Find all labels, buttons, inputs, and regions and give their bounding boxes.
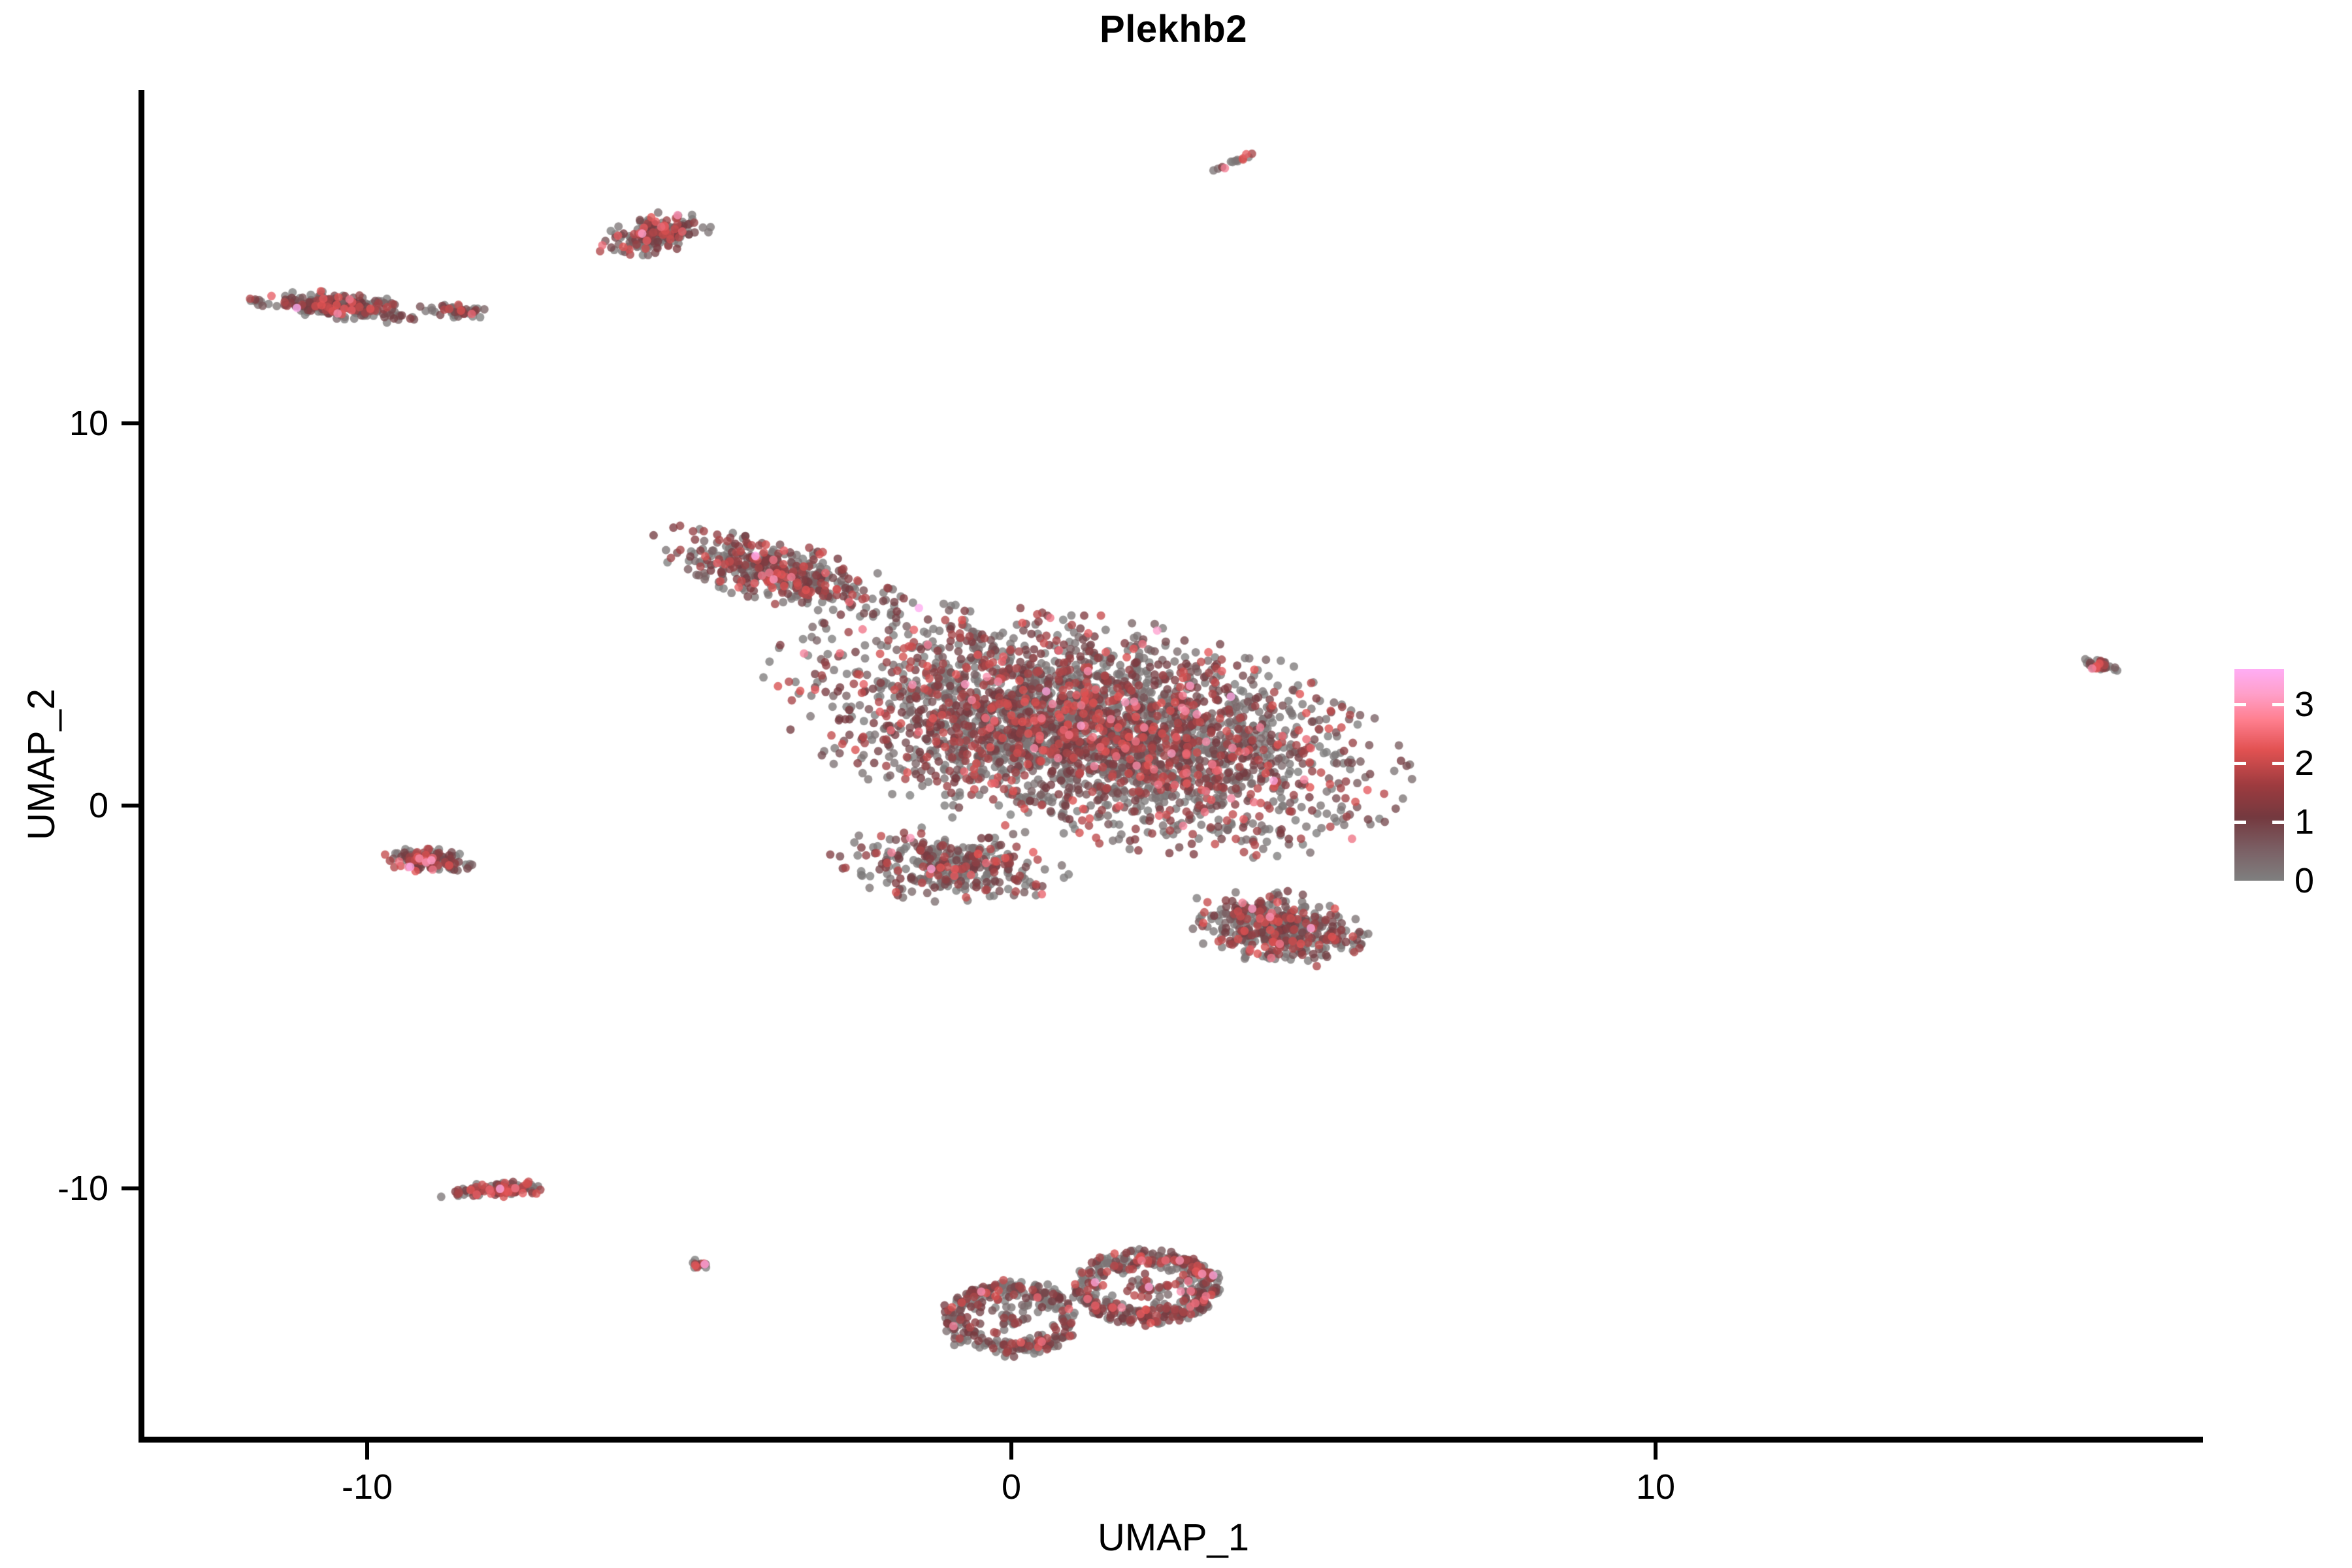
y-tick-mark — [122, 1186, 139, 1190]
x-axis-line — [139, 1437, 2203, 1443]
legend-tick-label: 2 — [2295, 743, 2314, 783]
legend-tick-label: 0 — [2295, 861, 2314, 900]
x-tick-label: -10 — [269, 1466, 465, 1508]
legend-tick-label: 3 — [2295, 685, 2314, 724]
umap-feature-plot: Plekhb2 -10010 100-10 UMAP_1 UMAP_2 3210 — [0, 0, 2352, 1568]
color-legend-gradient-bar — [2234, 669, 2284, 881]
legend-tick-mark — [2272, 821, 2284, 824]
y-tick-mark — [122, 421, 139, 425]
legend-tick-mark — [2272, 703, 2284, 706]
x-tick-mark — [1654, 1443, 1658, 1460]
legend-tick-mark — [2234, 762, 2246, 765]
legend-tick-mark — [2234, 703, 2246, 706]
plot-panel — [144, 90, 2203, 1439]
x-tick-mark — [365, 1443, 369, 1460]
y-tick-mark — [122, 804, 139, 808]
scatter-points-layer — [144, 90, 2203, 1439]
legend-tick-mark — [2272, 762, 2284, 765]
x-tick-label: 10 — [1558, 1466, 1754, 1508]
y-tick-label: 10 — [0, 402, 108, 444]
x-tick-mark — [1009, 1443, 1013, 1460]
y-axis-title: UMAP_2 — [20, 568, 64, 960]
page-title: Plekhb2 — [144, 7, 2203, 52]
color-legend: 3210 — [2234, 669, 2339, 891]
x-tick-label: 0 — [913, 1466, 1109, 1508]
y-tick-label: -10 — [0, 1168, 108, 1209]
y-axis-line — [139, 90, 144, 1443]
x-axis-title: UMAP_1 — [144, 1516, 2203, 1560]
legend-tick-mark — [2234, 821, 2246, 824]
legend-tick-label: 1 — [2295, 802, 2314, 841]
